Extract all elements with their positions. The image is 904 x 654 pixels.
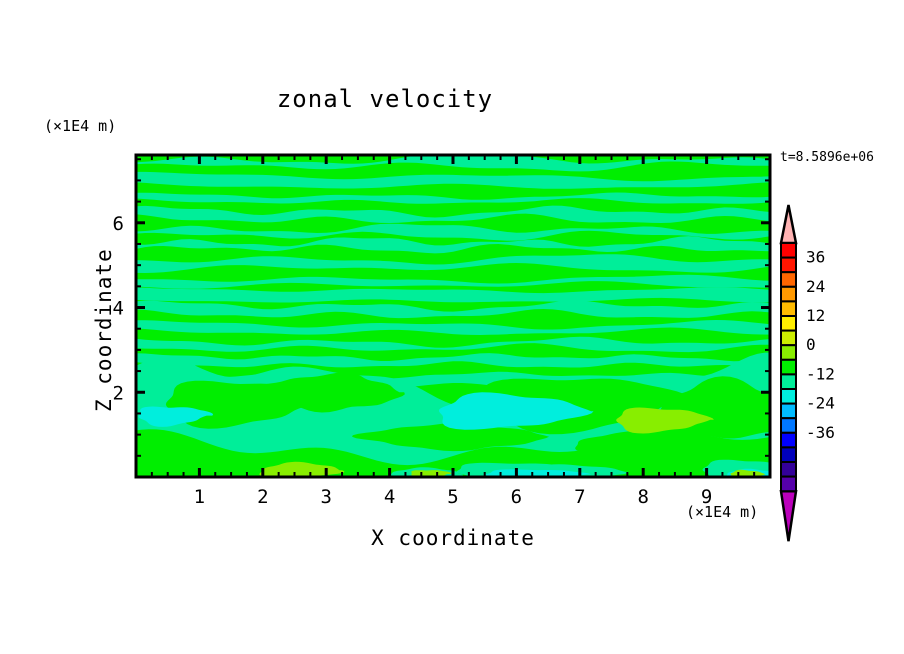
colorbar-band: [781, 447, 796, 462]
colorbar-band: [781, 389, 796, 404]
colorbar-band: [781, 433, 796, 448]
colorbar-tick-label: 12: [806, 306, 825, 325]
x-tick-label: 5: [447, 486, 458, 508]
contour-field: [111, 136, 797, 490]
colorbar-tick-label: -12: [806, 364, 835, 383]
colorbar-band: [781, 418, 796, 433]
y-tick-label: 2: [113, 382, 124, 404]
contour-plot: 123456789246 3624120-12-24-36: [0, 0, 904, 654]
colorbar-band: [781, 243, 796, 258]
colorbar-band: [781, 287, 796, 302]
colorbar-tick-label: -36: [806, 423, 835, 442]
x-tick-label: 3: [320, 486, 331, 508]
colorbar-band: [781, 360, 796, 375]
x-tick-label: 4: [384, 486, 395, 508]
colorbar-tick-label: 0: [806, 335, 816, 354]
colorbar-band: [781, 462, 796, 477]
x-tick-label: 8: [637, 486, 648, 508]
y-tick-label: 6: [113, 213, 124, 235]
colorbar-band: [781, 272, 796, 287]
x-tick-label: 9: [701, 486, 712, 508]
colorbar-band: [781, 374, 796, 389]
x-tick-label: 7: [574, 486, 585, 508]
x-tick-label: 2: [257, 486, 268, 508]
colorbar-band: [781, 404, 796, 419]
colorbar-band: [781, 331, 796, 346]
y-tick-label: 4: [113, 298, 124, 320]
x-tick-label: 1: [194, 486, 205, 508]
colorbar-tick-label: -24: [806, 394, 835, 413]
x-tick-label: 6: [511, 486, 522, 508]
figure-root: zonal velocity (×1E4 m) (×1E4 m) X coord…: [0, 0, 904, 654]
colorbar-tick-label: 24: [806, 277, 825, 296]
colorbar-band: [781, 316, 796, 331]
colorbar-band: [781, 258, 796, 273]
colorbar-band: [781, 301, 796, 316]
colorbar-band: [781, 477, 796, 492]
colorbar-band: [781, 345, 796, 360]
colorbar: 3624120-12-24-36: [781, 205, 835, 541]
colorbar-tick-label: 36: [806, 248, 825, 267]
